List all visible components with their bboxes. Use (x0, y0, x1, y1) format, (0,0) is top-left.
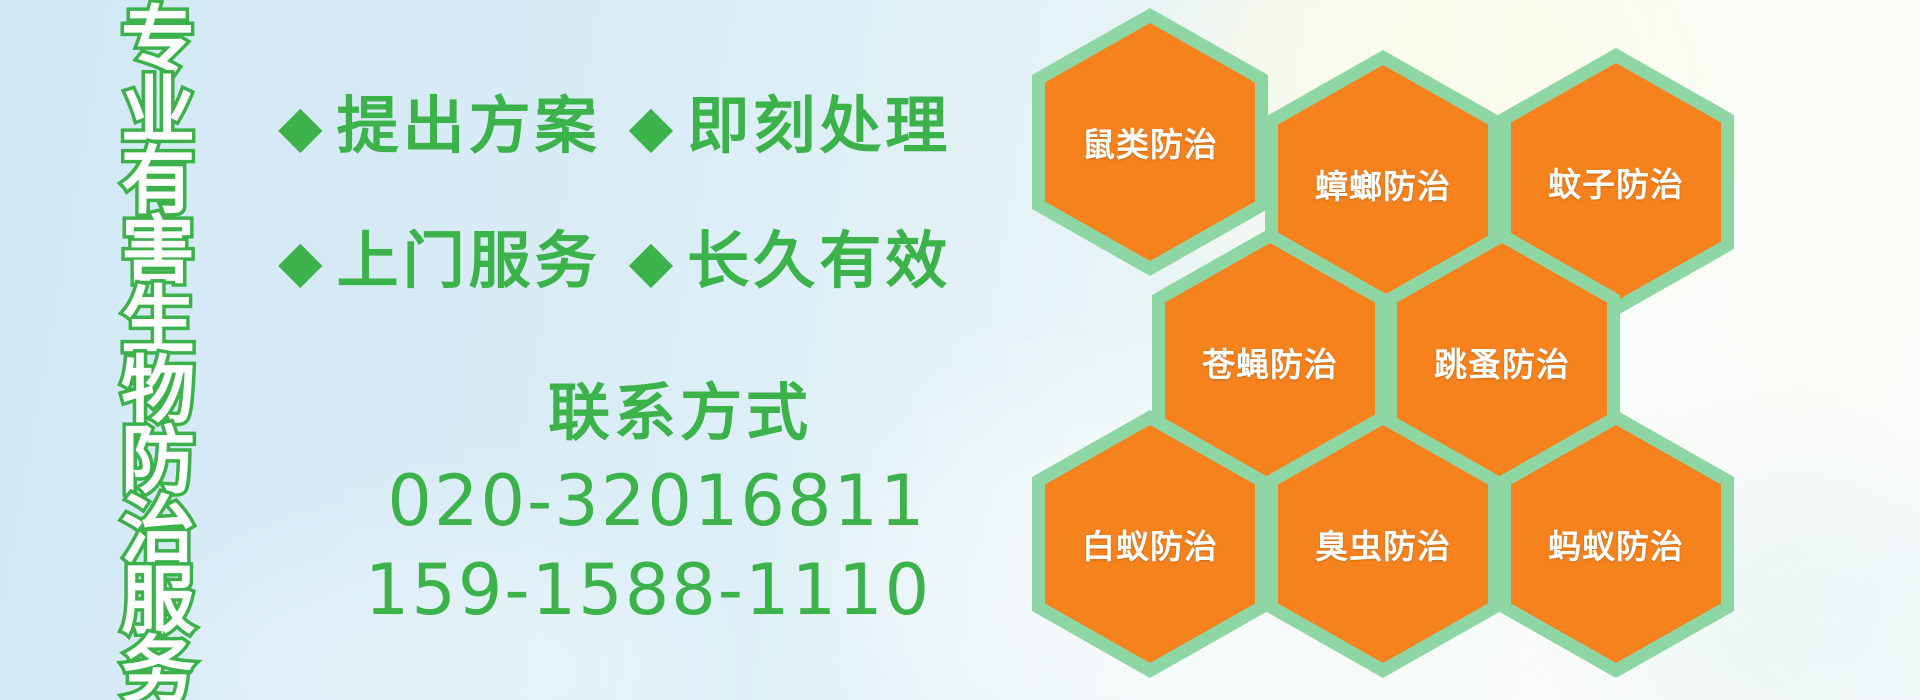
vertical-headline-char: 物 (121, 356, 195, 426)
hex-label: 蚂蚁防治 (1548, 520, 1684, 568)
vertical-headline-char: 有 (121, 146, 195, 216)
diamond-bullet-icon: ◆ (278, 232, 323, 290)
contact-block: 联系方式 020-32016811 159-1588-1110 (300, 380, 960, 634)
vertical-headline-char: 务 (121, 636, 195, 700)
diamond-bullet-icon: ◆ (629, 97, 674, 155)
hex-cell[interactable]: 蚂蚁防治 (1498, 410, 1734, 678)
hex-label: 臭虫防治 (1315, 520, 1451, 568)
feature-label: 即刻处理 (687, 95, 951, 157)
hex-cell[interactable]: 白蚁防治 (1032, 410, 1268, 678)
diamond-bullet-icon: ◆ (278, 97, 323, 155)
hex-label: 蟑螂防治 (1315, 160, 1451, 208)
hex-label: 苍蝇防治 (1202, 338, 1338, 386)
vertical-headline-char: 专 (121, 6, 195, 76)
vertical-headline-char: 服 (121, 566, 195, 636)
feature-row-2: ◆ 上门服务 ◆ 长久有效 (278, 230, 979, 292)
vertical-headline-char: 防 (121, 426, 195, 496)
service-honeycomb: 鼠类防治 蟑螂防治 蚊子防治 苍蝇防治 跳蚤防治 白蚁防 (1040, 0, 1920, 700)
contact-title: 联系方式 (400, 380, 960, 445)
feature-label: 长久有效 (687, 230, 951, 292)
feature-label: 提出方案 (337, 95, 601, 157)
vertical-headline-char: 生 (121, 286, 195, 356)
vertical-headline-char: 业 (121, 76, 195, 146)
hex-label: 蚊子防治 (1548, 158, 1684, 206)
feature-row-1: ◆ 提出方案 ◆ 即刻处理 (278, 95, 979, 157)
promo-banner: 专 业 有 害 生 物 防 治 服 务 ◆ 提出方案 ◆ 即刻处理 ◆ 上门服务… (0, 0, 1920, 700)
hex-label: 鼠类防治 (1082, 118, 1218, 166)
diamond-bullet-icon: ◆ (629, 232, 674, 290)
contact-phone-mobile[interactable]: 159-1588-1110 (336, 548, 960, 633)
feature-label: 上门服务 (337, 230, 601, 292)
vertical-headline-char: 治 (121, 496, 195, 566)
hex-cell[interactable]: 臭虫防治 (1265, 410, 1501, 678)
contact-phone-landline[interactable]: 020-32016811 (354, 459, 960, 544)
vertical-headline: 专 业 有 害 生 物 防 治 服 务 (104, 6, 212, 696)
hex-label: 跳蚤防治 (1434, 338, 1570, 386)
vertical-headline-char: 害 (121, 216, 195, 286)
hex-label: 白蚁防治 (1082, 520, 1218, 568)
